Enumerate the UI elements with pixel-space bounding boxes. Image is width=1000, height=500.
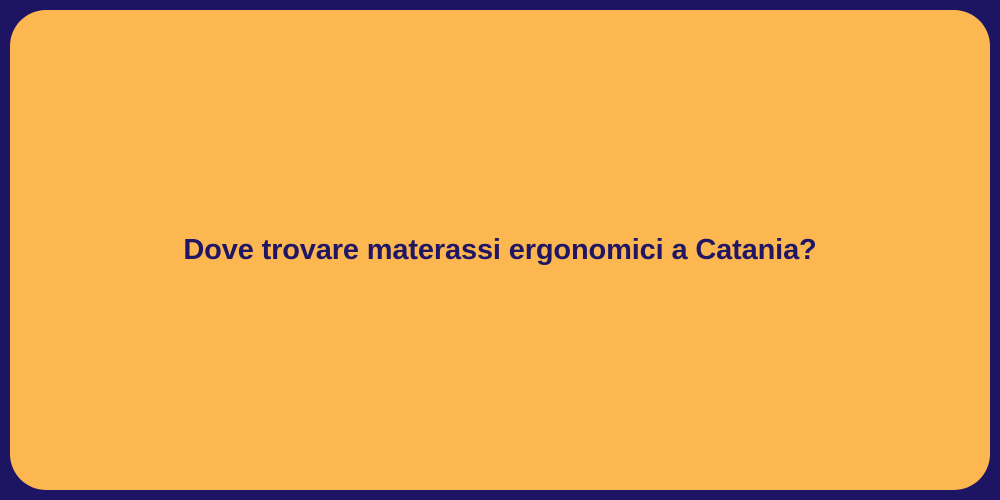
banner-root: Dove trovare materassi ergonomici a Cata… bbox=[0, 0, 1000, 500]
banner-content: Dove trovare materassi ergonomici a Cata… bbox=[10, 232, 990, 268]
banner-heading: Dove trovare materassi ergonomici a Cata… bbox=[183, 232, 816, 268]
banner-card: Dove trovare materassi ergonomici a Cata… bbox=[10, 10, 990, 490]
